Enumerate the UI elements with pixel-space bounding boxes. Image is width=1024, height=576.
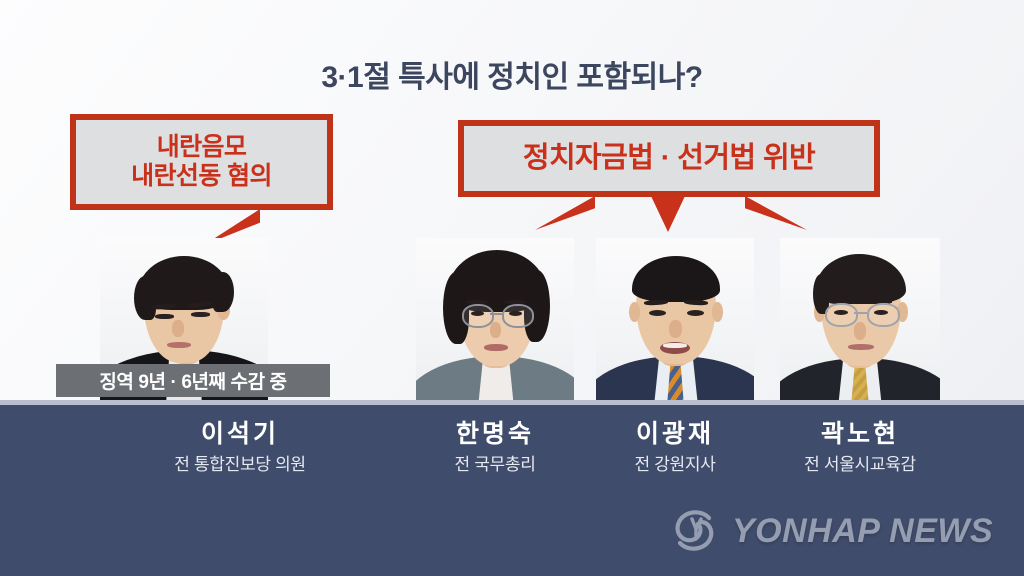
watermark: YONHAP NEWS: [668, 503, 998, 559]
person-label-3: 곽노현 전 서울시교육감: [760, 419, 960, 478]
charge-bubble-right-line1: 정치자금법 · 선거법 위반: [523, 142, 815, 176]
portrait-han-myeong-sook: [416, 238, 574, 403]
charge-bubble-left-line1: 내란음모: [157, 133, 247, 162]
charge-bubble-left-line2: 내란선동 혐의: [131, 162, 272, 191]
person-label-0: 이석기 전 통합진보당 의원: [140, 419, 340, 478]
watermark-text: YONHAP NEWS: [732, 512, 993, 551]
person-label-1: 한명숙 전 국무총리: [395, 419, 595, 478]
portrait-kwak-no-hyun: [780, 238, 940, 403]
person-role-1: 전 국무총리: [395, 452, 595, 478]
person-role-2: 전 강원지사: [575, 452, 775, 478]
charge-bubble-left: 내란음모 내란선동 혐의: [70, 114, 333, 210]
infographic-canvas: 3·1절 특사에 정치인 포함되나? 내란음모 내란선동 혐의 정치자금법 · …: [0, 0, 1024, 576]
person-name-0: 이석기: [140, 419, 340, 450]
person-name-2: 이광재: [575, 419, 775, 450]
portrait-lee-kwang-jae: [596, 238, 754, 403]
person-name-1: 한명숙: [395, 419, 595, 450]
person-role-0: 전 통합진보당 의원: [140, 452, 340, 478]
status-badge-label: 징역 9년 · 6년째 수감 중: [99, 367, 286, 394]
person-role-3: 전 서울시교육감: [760, 452, 960, 478]
charge-bubble-right: 정치자금법 · 선거법 위반: [458, 120, 880, 197]
person-label-2: 이광재 전 강원지사: [575, 419, 775, 478]
person-name-3: 곽노현: [760, 419, 960, 450]
charge-bubble-right-tail-2: [651, 196, 685, 232]
charge-bubble-right-tail-1: [535, 196, 595, 230]
yonhap-swirl-logo: [668, 505, 720, 557]
status-badge: 징역 9년 · 6년째 수감 중: [56, 364, 330, 397]
charge-bubble-right-tail-3: [745, 196, 807, 230]
page-title: 3·1절 특사에 정치인 포함되나?: [0, 52, 1024, 96]
